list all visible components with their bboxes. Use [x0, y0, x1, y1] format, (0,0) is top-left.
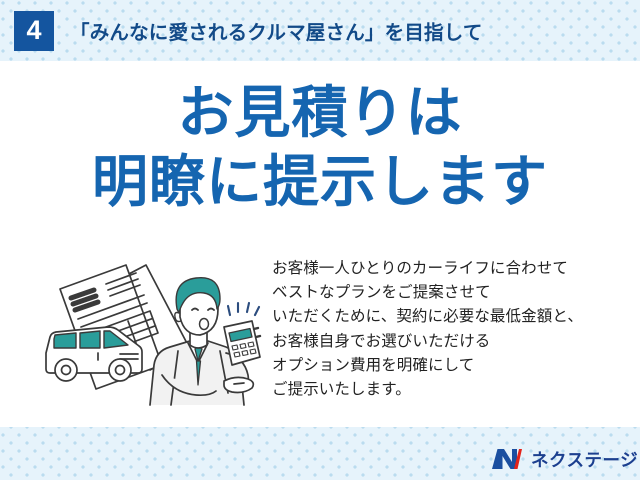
body-paragraph: お客様一人ひとりのカーライフに合わせて ベストなプランをご提案させて いただくた…	[272, 257, 622, 402]
section-header: 4 「みんなに愛されるクルマ屋さん」を目指して	[0, 0, 640, 61]
body-line: お客様一人ひとりのカーライフに合わせて	[272, 257, 622, 281]
content-panel: お見積りは 明瞭に提示します お客様一人ひとりのカーライフに合わせて ベストなプ…	[0, 61, 640, 427]
sparkle-icon	[228, 303, 259, 315]
brand-name: ネクステージ	[531, 447, 638, 472]
brand-logo: ネクステージ	[492, 446, 638, 472]
headline-line-1: お見積りは	[0, 83, 640, 142]
illustration-salesperson-estimate	[38, 253, 270, 413]
body-line: ベストなプランをご提案させて	[272, 281, 622, 305]
body-line: お客様自身でお選びいただける	[272, 330, 622, 354]
body-line: ご提示いたします。	[272, 378, 622, 402]
section-number-badge: 4	[14, 11, 54, 51]
section-title: 「みんなに愛されるクルマ屋さん」を目指して	[70, 16, 483, 45]
nextage-n-mark-icon	[492, 448, 522, 470]
promo-banner: 4 「みんなに愛されるクルマ屋さん」を目指して お見積りは 明瞭に提示します お…	[0, 0, 640, 480]
headline-line-2: 明瞭に提示します	[0, 152, 640, 211]
headline: お見積りは 明瞭に提示します	[0, 83, 640, 212]
body-line: いただくために、契約に必要な最低金額と、	[272, 305, 622, 329]
body-line: オプション費用を明確にして	[272, 354, 622, 378]
